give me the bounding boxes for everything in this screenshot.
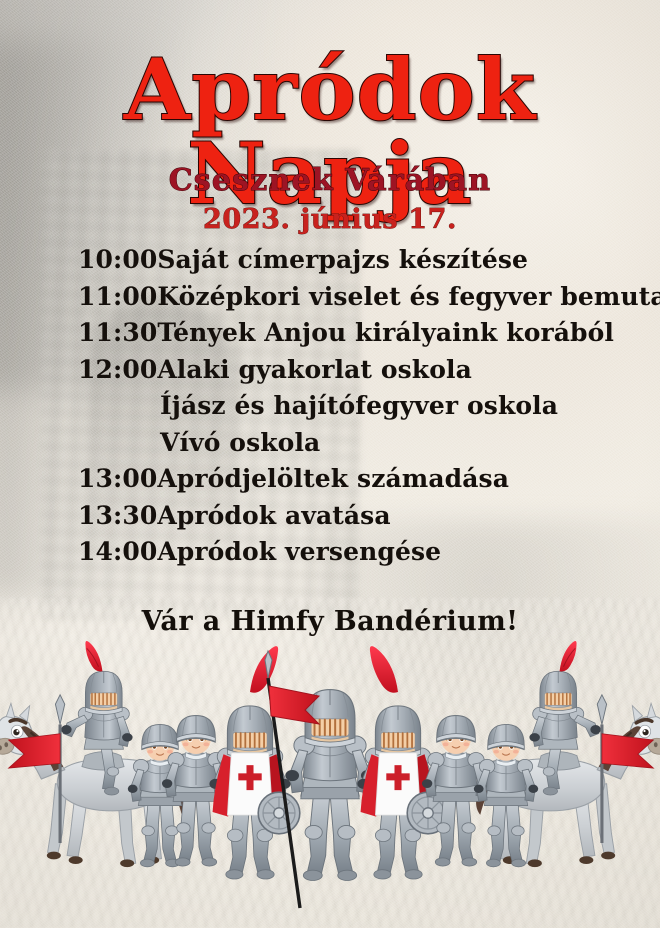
schedule-label: Íjász és hajítófegyver oskola (160, 391, 558, 420)
schedule-label: Saját címerpajzs készítése (157, 245, 528, 274)
schedule-row: 14:00Apródok versengése (78, 534, 638, 571)
schedule-row: 12:00Alaki gyakorlat oskola (78, 352, 638, 389)
schedule-time: 14:00 (78, 534, 157, 571)
plume-left-templar (250, 646, 278, 693)
plume-right-templar (370, 646, 398, 693)
schedule-time: 13:30 (78, 498, 157, 535)
schedule-label: Alaki gyakorlat oskola (157, 355, 472, 384)
schedule-time: 11:30 (78, 315, 157, 352)
round-shield-left (258, 792, 300, 834)
poster: Apródok Napja Csesznek Várában 2023. jún… (0, 0, 660, 928)
schedule-label: Apródok versengése (157, 537, 441, 566)
poster-date: 2023. június 17. (0, 204, 660, 235)
schedule-row: 11:00Középkori viselet és fegyver bemuta… (78, 279, 638, 316)
schedule-row: Vívó oskola (78, 425, 638, 462)
schedule-label: Apródok avatása (157, 501, 390, 530)
schedule-label: Apródjelöltek számadása (157, 464, 509, 493)
schedule-time: 10:00 (78, 242, 157, 279)
schedule-time: 11:00 (78, 279, 157, 316)
schedule-row: 13:00Apródjelöltek számadása (78, 461, 638, 498)
schedule-list: 10:00Saját címerpajzs készítése 11:00Köz… (78, 242, 638, 571)
schedule-label: Vívó oskola (160, 428, 320, 457)
schedule-row: 10:00Saját címerpajzs készítése (78, 242, 638, 279)
schedule-label: Tények Anjou királyaink korából (157, 318, 614, 347)
poster-subtitle: Csesznek Várában (0, 163, 660, 198)
knights-illustration (0, 608, 660, 928)
schedule-time: 12:00 (78, 352, 157, 389)
schedule-row: Íjász és hajítófegyver oskola (78, 388, 638, 425)
schedule-label: Középkori viselet és fegyver bemutató (157, 282, 660, 311)
schedule-row: 13:30Apródok avatása (78, 498, 638, 535)
schedule-time: 13:00 (78, 461, 157, 498)
schedule-row: 11:30Tények Anjou királyaink korából (78, 315, 638, 352)
